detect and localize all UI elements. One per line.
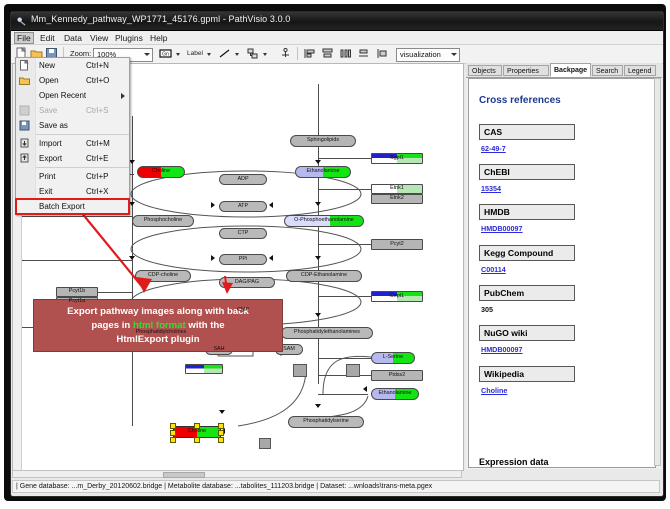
node-chpt1[interactable] — [185, 364, 223, 374]
xref-db-wikipedia: Wikipedia — [479, 366, 575, 382]
node-o-phosphoethanolamine[interactable]: O-Phosphoethanolamine — [284, 215, 364, 227]
line-dropdown-icon[interactable] — [235, 53, 239, 56]
sidebar-panel: Objects Properties Backpage Search Legen… — [466, 63, 662, 469]
arrow-head — [315, 313, 321, 317]
chevron-down-icon-2 — [451, 53, 457, 56]
menu-data[interactable]: Data — [61, 32, 85, 44]
node-pcyt2[interactable]: Pcyt2 — [371, 239, 423, 250]
xref-db-kegg: Kegg Compound — [479, 245, 575, 261]
node-choline-top[interactable]: Choline — [137, 166, 185, 178]
menu-item-print[interactable]: Print Ctrl+P — [16, 169, 129, 184]
node-l-serine[interactable]: L-Serine — [371, 352, 415, 364]
node-cdp-choline[interactable]: CDP-choline — [135, 270, 191, 282]
status-bar: | Gene database: ...m_Derby_20120602.bri… — [12, 480, 660, 493]
toolbar-separator-2 — [297, 47, 298, 60]
sidebar-tabs: Objects Properties Backpage Search Legen… — [466, 63, 662, 78]
menu-separator — [35, 134, 129, 135]
tab-backpage[interactable]: Backpage — [550, 63, 591, 77]
node-pcyt1b[interactable]: Pcyt1b — [56, 287, 98, 297]
arrow-head — [219, 410, 225, 414]
menu-item-open-recent[interactable]: Open Recent — [16, 88, 129, 103]
menu-item-exit[interactable]: Exit Ctrl+X — [16, 184, 129, 199]
arrow-head — [315, 160, 321, 164]
distribute-button[interactable] — [339, 47, 352, 60]
anchor-box[interactable] — [346, 364, 360, 377]
visualization-value: visualization — [400, 50, 441, 59]
node-sgpl1[interactable]: Sgpl1 — [371, 153, 423, 164]
xref-db-nugo: NuGO wiki — [479, 325, 575, 341]
xref-db-cas: CAS — [479, 124, 575, 140]
group-button[interactable] — [375, 47, 388, 60]
node-cdp-ethanolamine[interactable]: CDP-Ethanolamine — [286, 270, 362, 282]
arrow-head — [315, 256, 321, 260]
menu-item-export[interactable]: Export Ctrl+E — [16, 151, 129, 166]
backpage-content: Cross references CAS 62-49-7 ChEBI 15354… — [468, 78, 656, 468]
node-ctp[interactable]: CTP — [219, 228, 267, 239]
pathvisio-window: Mm_Kennedy_pathway_WP1771_45176.gpml - P… — [10, 11, 664, 497]
connector-line — [318, 158, 371, 159]
label-dropdown-label[interactable]: Label — [187, 50, 203, 57]
arrow-head — [315, 202, 321, 206]
visualization-combo[interactable]: visualization — [396, 48, 460, 62]
datanode-dropdown-icon[interactable] — [176, 53, 180, 56]
line-button[interactable] — [218, 47, 231, 60]
selection-handle[interactable] — [170, 423, 176, 429]
callout-line2-b: with the — [186, 320, 225, 331]
xref-value-pubchem: 305 — [481, 305, 493, 314]
pathvisio-icon — [16, 16, 27, 27]
xref-value-cas[interactable]: 62-49-7 — [481, 144, 506, 153]
save-as-icon — [19, 120, 30, 131]
node-etnk2[interactable]: Etnk2 — [371, 194, 423, 204]
menu-file[interactable]: File — [14, 32, 34, 44]
selection-handle[interactable] — [170, 430, 176, 436]
stack-button[interactable] — [357, 47, 370, 60]
tab-search[interactable]: Search — [592, 65, 623, 76]
window-title: Mm_Kennedy_pathway_WP1771_45176.gpml - P… — [31, 14, 290, 24]
anchor-button[interactable] — [279, 47, 292, 60]
chevron-right-icon — [121, 93, 125, 99]
menu-separator-2 — [35, 167, 129, 168]
arrow-head — [315, 404, 321, 408]
xref-value-hmdb[interactable]: HMDB00097 — [481, 224, 523, 233]
node-ethanolamine-top[interactable]: Ethanolamine — [295, 166, 351, 178]
menu-item-new[interactable]: New Ctrl+N — [16, 58, 129, 73]
node-adp[interactable]: ADP — [219, 174, 267, 185]
menu-item-open[interactable]: Open Ctrl+O — [16, 73, 129, 88]
scrollbar-thumb[interactable] — [163, 472, 205, 478]
tab-legend[interactable]: Legend — [624, 65, 656, 76]
arrow-head — [211, 202, 215, 208]
arrow-head — [211, 255, 215, 261]
anchor-box[interactable] — [293, 364, 307, 377]
export-icon — [19, 153, 30, 164]
tab-objects[interactable]: Objects — [468, 65, 502, 76]
selection-handle[interactable] — [218, 430, 224, 436]
tab-properties[interactable]: Properties — [503, 65, 549, 76]
shape-button[interactable] — [246, 47, 259, 60]
node-dag-pag[interactable]: DAG/PAG — [219, 277, 275, 288]
xref-value-wikipedia[interactable]: Choline — [481, 386, 507, 395]
selection-handle[interactable] — [218, 423, 224, 429]
sidebar-scrollbar[interactable] — [654, 78, 661, 466]
xref-value-chebi[interactable]: 15354 — [481, 184, 501, 193]
folder-open-icon — [19, 75, 30, 86]
arrow-head — [269, 202, 273, 208]
node-ethanolamine-bottom[interactable]: Ethanolamine — [371, 388, 419, 400]
connector-line — [22, 260, 132, 261]
datanode-button[interactable]: Gn — [159, 47, 172, 60]
canvas-hscrollbar[interactable] — [12, 470, 462, 478]
anchor-box[interactable] — [259, 438, 271, 449]
menu-plugins[interactable]: Plugins — [112, 32, 146, 44]
import-icon — [19, 138, 30, 149]
callout-line2-a: pages in — [91, 320, 133, 331]
file-menu-dropdown[interactable]: New Ctrl+N Open Ctrl+O Open Recent Save … — [15, 57, 130, 215]
shape-dropdown-icon[interactable] — [263, 53, 267, 56]
node-phosphatidylserine[interactable]: Phosphatidylserine — [288, 416, 364, 428]
label-dropdown-icon[interactable] — [207, 53, 211, 56]
node-cept1[interactable]: Cept1 — [371, 291, 423, 302]
title-bar: Mm_Kennedy_pathway_WP1771_45176.gpml - P… — [11, 12, 663, 31]
menu-help[interactable]: Help — [147, 32, 170, 44]
menu-edit[interactable]: Edit — [37, 32, 58, 44]
menu-item-save: Save Ctrl+S — [16, 103, 129, 118]
align-left-button[interactable] — [303, 47, 316, 60]
arrow-head — [129, 256, 135, 260]
expression-data-heading: Expression data — [479, 457, 549, 467]
chevron-down-icon — [144, 53, 150, 56]
node-atp[interactable]: ATP — [219, 201, 267, 212]
selection-handle[interactable] — [194, 437, 200, 443]
xref-value-nugo[interactable]: HMDB00097 — [481, 345, 523, 354]
xref-value-kegg[interactable]: C00114 — [481, 265, 506, 274]
menu-item-save-as[interactable]: Save as — [16, 118, 129, 133]
arrow-head — [269, 255, 273, 261]
svg-text:Gn: Gn — [162, 52, 169, 58]
new-file-icon — [19, 60, 30, 71]
menu-view[interactable]: View — [87, 32, 111, 44]
callout-line1: Export pathway images along with back — [67, 306, 249, 317]
menu-bar: File Edit Data View Plugins Help — [11, 31, 663, 45]
connector-line — [22, 216, 132, 217]
menu-item-batch-export[interactable]: Batch Export — [16, 199, 129, 214]
selection-handle[interactable] — [218, 437, 224, 443]
xref-db-pubchem: PubChem — [479, 285, 575, 301]
selection-handle[interactable] — [170, 437, 176, 443]
node-sphingolipids[interactable]: Sphingolipids — [290, 135, 356, 147]
xref-db-hmdb: HMDB — [479, 204, 575, 220]
arrow-head — [363, 386, 367, 392]
node-ptdss2[interactable]: Ptdss2 — [371, 370, 423, 381]
menu-item-import[interactable]: Import Ctrl+M — [16, 136, 129, 151]
xref-db-chebi: ChEBI — [479, 164, 575, 180]
node-phosphocholine[interactable]: Phosphocholine — [132, 215, 194, 227]
screenshot-root: Mm_Kennedy_pathway_WP1771_45176.gpml - P… — [0, 0, 670, 509]
save-disk-icon — [19, 105, 30, 116]
node-etnk1[interactable]: Etnk1 — [371, 184, 423, 194]
cross-references-heading: Cross references — [479, 95, 561, 106]
align-center-button[interactable] — [321, 47, 334, 60]
node-ppi[interactable]: PPi — [219, 254, 267, 265]
node-phosphatidylethanolamines[interactable]: Phosphatidylethanolamines — [281, 327, 373, 339]
